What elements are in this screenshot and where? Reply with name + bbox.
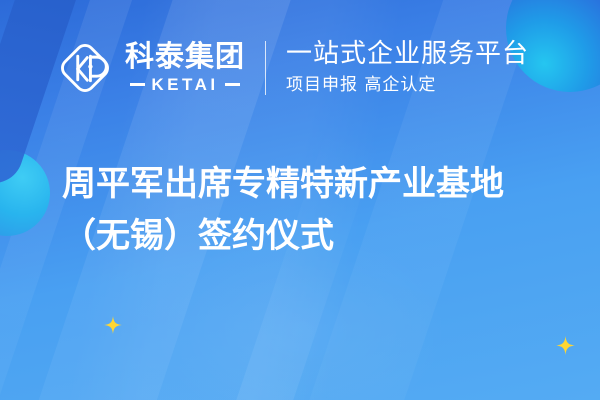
header-divider <box>265 41 266 95</box>
sparkle-icon <box>556 336 575 355</box>
cyan-circle-decoration <box>0 150 50 236</box>
brand-name-en-row: KETAI <box>125 75 245 95</box>
slogan-main-text: 一站式企业服务平台 <box>286 39 529 70</box>
wordmark-dash-left <box>130 83 145 86</box>
banner-header: 科泰集团 KETAI 一站式企业服务平台 项目申报 高企认定 <box>0 0 600 136</box>
page-title: 周平军出席专精特新产业基地（无锡）签约仪式 <box>62 158 562 262</box>
brand-logo[interactable]: 科泰集团 KETAI <box>56 39 245 97</box>
slogan-sub-text: 项目申报 高企认定 <box>286 74 529 97</box>
brand-name-en: KETAI <box>151 75 218 95</box>
ketai-monogram-logo-icon <box>56 39 114 97</box>
brand-wordmark: 科泰集团 KETAI <box>125 41 245 94</box>
wordmark-dash-right <box>225 83 240 86</box>
brand-name-cn: 科泰集团 <box>125 41 245 71</box>
sparkle-icon <box>104 316 122 334</box>
slogan-block: 一站式企业服务平台 项目申报 高企认定 <box>286 39 529 97</box>
promo-banner: 科泰集团 KETAI 一站式企业服务平台 项目申报 高企认定 周平军出席专精特新… <box>0 0 600 400</box>
